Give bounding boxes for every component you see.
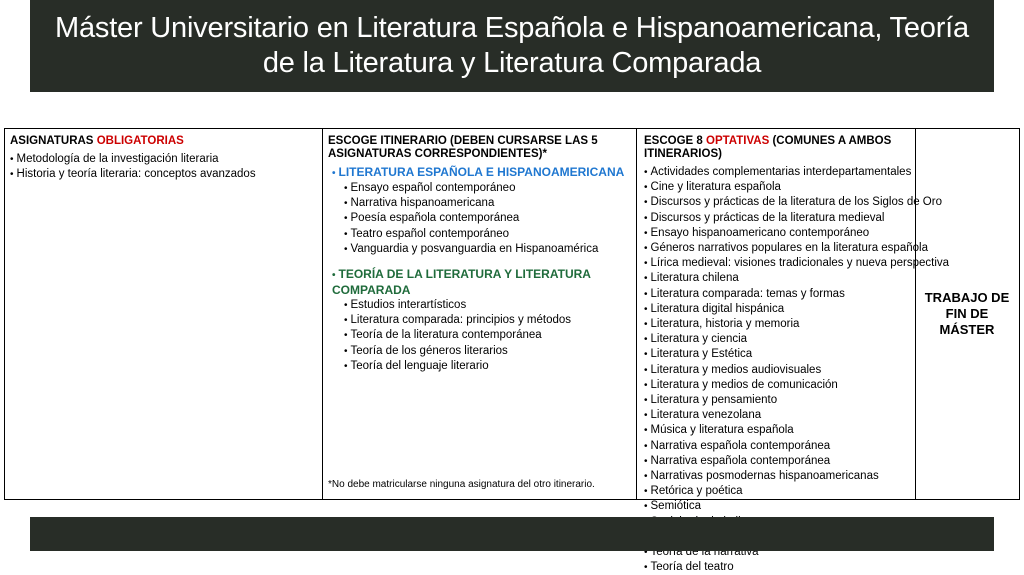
header-text-prefix: ESCOGE 8	[644, 135, 706, 147]
list-item: Narrativa hispanoamericana	[328, 196, 630, 211]
column-header-itinerario: ESCOGE ITINERARIO (DEBEN CURSARSE LAS 5 …	[328, 135, 630, 161]
column-tfm: TRABAJO DE FIN DE MÁSTER	[916, 129, 1019, 499]
footer-bar	[30, 517, 994, 551]
list-item: Literatura digital hispánica	[642, 302, 909, 317]
list-item: Semiótica	[642, 499, 909, 514]
list-item: Poesía española contemporánea	[328, 211, 630, 226]
list-item: Estudios interartísticos	[328, 298, 630, 313]
itinerary-list: Ensayo español contemporáneo Narrativa h…	[328, 181, 630, 257]
list-item: Lírica medieval: visiones tradicionales …	[642, 256, 909, 271]
list-item: Literatura y medios audiovisuales	[642, 363, 909, 378]
header-text-prefix: ASIGNATURAS	[10, 135, 97, 147]
tfm-line-1: TRABAJO DE	[925, 290, 1010, 306]
column-itinerario: ESCOGE ITINERARIO (DEBEN CURSARSE LAS 5 …	[323, 129, 637, 499]
list-item: Vanguardia y posvanguardia en Hispanoamé…	[328, 242, 630, 257]
page-title: Máster Universitario en Literatura Españ…	[30, 11, 994, 81]
tfm-line-3: MÁSTER	[925, 322, 1010, 338]
tfm-label: TRABAJO DE FIN DE MÁSTER	[925, 290, 1010, 338]
list-item: Literatura y pensamiento	[642, 393, 909, 408]
list-item: Cine y literatura española	[642, 180, 909, 195]
list-item: Discursos y prácticas de la literatura m…	[642, 211, 909, 226]
header-text-highlight: OPTATIVAS	[706, 135, 769, 147]
column-optativas: ESCOGE 8 OPTATIVAS (COMUNES A AMBOS ITIN…	[637, 129, 916, 499]
list-item: Teoría de la literatura contemporánea	[328, 328, 630, 343]
itinerary-group-teoria-literatura: TEORÍA DE LA LITERATURA Y LITERATURA COM…	[328, 267, 630, 374]
list-item: Discursos y prácticas de la literatura d…	[642, 195, 909, 210]
itinerary-group-literatura-espanola: LITERATURA ESPAÑOLA E HISPANOAMERICANA E…	[328, 165, 630, 257]
itinerary-title: LITERATURA ESPAÑOLA E HISPANOAMERICANA	[328, 165, 630, 181]
list-item: Literatura comparada: principios y métod…	[328, 313, 630, 328]
list-item: Historia y teoría literaria: conceptos a…	[10, 167, 316, 182]
itinerary-list: Estudios interartísticos Literatura comp…	[328, 298, 630, 374]
header-bar: Máster Universitario en Literatura Españ…	[30, 0, 994, 92]
list-item: Ensayo hispanoamericano contemporáneo	[642, 226, 909, 241]
list-item: Actividades complementarias interdeparta…	[642, 165, 909, 180]
list-item: Metodología de la investigación literari…	[10, 152, 316, 167]
itinerary-title: TEORÍA DE LA LITERATURA Y LITERATURA COM…	[328, 267, 630, 298]
curriculum-table: ASIGNATURAS OBLIGATORIAS Metodología de …	[4, 128, 1020, 500]
list-item: Narrativa española contemporánea	[642, 439, 909, 454]
optativas-list: Actividades complementarias interdeparta…	[642, 165, 909, 575]
list-item: Literatura, historia y memoria	[642, 317, 909, 332]
column-header-obligatorias: ASIGNATURAS OBLIGATORIAS	[10, 135, 316, 148]
list-item: Teatro español contemporáneo	[328, 227, 630, 242]
itinerary-footnote: *No debe matricularse ninguna asignatura…	[328, 479, 595, 490]
list-item: Literatura venezolana	[642, 408, 909, 423]
list-item: Literatura y ciencia	[642, 332, 909, 347]
header-text-highlight: OBLIGATORIAS	[97, 135, 184, 147]
list-item: Retórica y poética	[642, 484, 909, 499]
tfm-line-2: FIN DE	[925, 306, 1010, 322]
list-item: Teoría del lenguaje literario	[328, 359, 630, 374]
list-item: Narrativas posmodernas hispanoamericanas	[642, 469, 909, 484]
list-item: Literatura chilena	[642, 271, 909, 286]
column-obligatorias: ASIGNATURAS OBLIGATORIAS Metodología de …	[5, 129, 323, 499]
obligatorias-list: Metodología de la investigación literari…	[10, 152, 316, 182]
list-item: Literatura y medios de comunicación	[642, 378, 909, 393]
list-item: Teoría del teatro	[642, 560, 909, 575]
list-item: Música y literatura española	[642, 423, 909, 438]
list-item: Géneros narrativos populares en la liter…	[642, 241, 909, 256]
list-item: Literatura comparada: temas y formas	[642, 287, 909, 302]
list-item: Literatura y Estética	[642, 347, 909, 362]
column-header-optativas: ESCOGE 8 OPTATIVAS (COMUNES A AMBOS ITIN…	[642, 135, 909, 161]
list-item: Narrativa española contemporánea	[642, 454, 909, 469]
list-item: Ensayo español contemporáneo	[328, 181, 630, 196]
list-item: Teoría de los géneros literarios	[328, 344, 630, 359]
